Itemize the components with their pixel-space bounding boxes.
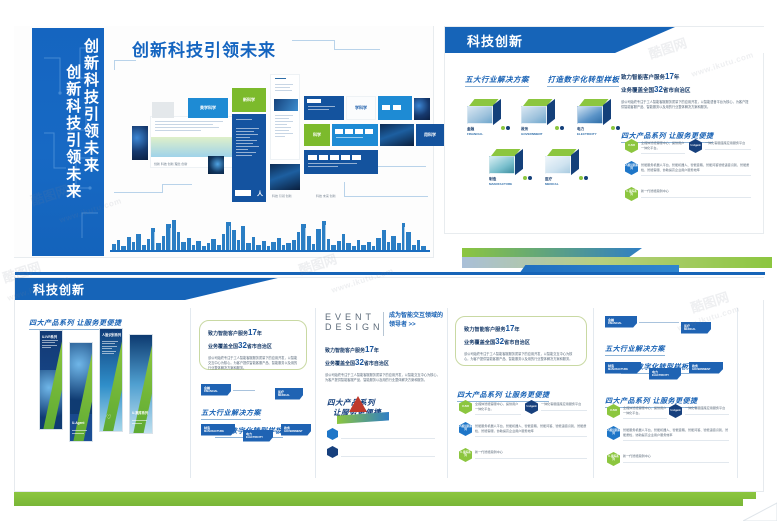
product-text-case: 新一代智能案例中心 xyxy=(641,187,751,198)
industry-dots xyxy=(611,117,621,135)
event-sub-2: 领导者 >> xyxy=(389,321,443,330)
vertical-title-line-a: 创新科技引领未来 xyxy=(82,38,98,248)
industry-label-electricity: 电力 ELECTRICITY xyxy=(577,127,597,136)
event-design-block: EVENT DESIGN xyxy=(325,312,384,332)
collage-photo-tile xyxy=(414,98,430,120)
stat-line-1-pre: 致力智能客户服务 xyxy=(208,331,248,337)
collage-navy-tile: 人 xyxy=(232,114,266,202)
industry-label-cn: 医疗 xyxy=(545,177,552,181)
stat-line-1: 致力智能客户服务17年 xyxy=(621,71,751,84)
tag-connector xyxy=(233,390,255,391)
industry-tag-en: FINANCIAL xyxy=(608,322,633,326)
stat-line-1: 致力智能客户服务17年 xyxy=(208,327,298,340)
col5-product-item-agent[interactable]: U-Agent 一体化客服座席应用服务平台 xyxy=(669,404,729,418)
manufacture-illustration-icon xyxy=(489,156,515,174)
event-subtitle: 成为智能交互领域的 领导者 >> xyxy=(389,312,443,330)
innovation-collage: 创新 科技 创新 理念 创新 美学科学 新科学 xyxy=(132,74,422,209)
collage-blue-tile xyxy=(332,124,378,146)
industry-dots xyxy=(523,167,533,185)
industry-tag-medical[interactable]: 医疗 MEDICAL xyxy=(681,322,711,334)
product-item-face[interactable]: 人脸识别系列 智能服务机器人平台、智能机器人、智能音箱、智能问答智能语音识别、智… xyxy=(625,161,751,176)
product-badge-ivr: U-IVR xyxy=(607,404,620,418)
product-badge-face: 人脸识别系列 xyxy=(607,426,620,440)
col4-product-item-face[interactable]: 人脸识别系列 智能服务机器人平台、智能机器人、智能音箱、智能问答、智能语音识别、… xyxy=(459,422,587,437)
product-card-title: U-案库系列 xyxy=(132,410,148,415)
product-badge-case: U-案库系列 xyxy=(625,187,638,201)
collage-navy-wide-tile xyxy=(304,150,378,174)
collage-caption-right-a: 科技 引领 创新 xyxy=(272,194,292,198)
industry-tag-medical[interactable]: 医疗 MEDICAL xyxy=(275,388,303,400)
top-headline: 创新科技引领未来 xyxy=(132,36,276,61)
bottom-column-solutions-2: 金融 FINANCIAL 医疗 MEDICAL 五大行业解决方案 打造数字化转型… xyxy=(599,302,733,490)
industry-tag-en: MEDICAL xyxy=(278,394,299,398)
industry-tag-en: FINANCIAL xyxy=(204,390,227,394)
industry-label-manufacture: 制造 MANUFACTURE xyxy=(489,177,512,186)
product-card-title: U-IVR系列 xyxy=(42,334,57,339)
deco-line xyxy=(292,40,334,41)
industry-tag-government[interactable]: 政务 GOVERNMENT xyxy=(281,424,311,436)
bottom-header-band xyxy=(15,278,765,300)
product-text-face: 智能服务机器人平台、智能机器人、智能音箱、智能问答、智能语音识别、智能质检，协助… xyxy=(623,426,729,441)
top-right-stat-block: 致力智能客户服务17年 业务覆盖全国32省市自治区 该公司始终专注于工人智能客服… xyxy=(621,71,751,110)
stat-line-1-post: 年 xyxy=(674,75,680,81)
column-divider xyxy=(190,308,191,478)
stat-line-2-post: 省市自治区 xyxy=(504,340,530,346)
deco-line xyxy=(334,40,335,49)
industry-icon-electricity xyxy=(577,99,611,125)
medical-illustration-icon xyxy=(545,156,571,174)
top-right-board: 科技创新 五大行业解决方案 打造数字化转型样板 金融 FINANCIAL xyxy=(444,26,764,234)
stat-line-2-pre: 业务覆盖全国 xyxy=(208,344,238,350)
bottom-green-bar xyxy=(14,492,756,506)
stat-line-1-pre: 致力智能客户服务 xyxy=(464,327,506,333)
collage-tile-label: 科学 xyxy=(304,132,330,138)
tag-connector xyxy=(643,368,649,369)
collage-green-tile: 科学 xyxy=(304,124,330,146)
column-divider xyxy=(737,308,738,478)
industry-dots xyxy=(579,167,589,185)
collage-caption-left: 创新 科技 创新 理念 创新 xyxy=(154,162,187,166)
industry-tag-en: GOVERNMENT xyxy=(284,430,307,434)
stat-line-2-number: 32 xyxy=(355,358,364,367)
bottom-panel-top-rule xyxy=(15,272,765,275)
industry-tag-en: GOVERNMENT xyxy=(692,368,719,372)
col4-product-item-agent[interactable]: U-Agent 一体化客服座席应用服务平台 xyxy=(525,400,587,414)
product-card-case[interactable]: U-案库系列 xyxy=(129,334,153,434)
industry-label-en: MEDICAL xyxy=(545,182,559,186)
industry-dots xyxy=(555,117,565,135)
deco-line xyxy=(114,60,115,70)
stat-line-1: 致力智能客户服务17年 xyxy=(464,323,578,336)
product-badge-face: 人脸识别系列 xyxy=(459,422,472,436)
stat-line-2: 业务覆盖全国32省市自治区 xyxy=(208,340,298,353)
product-card-face[interactable]: 人脸识别系列 ♡ xyxy=(99,328,123,432)
industry-tag-en: ELECTRICITY xyxy=(246,436,269,440)
top-panel: 创新科技引领未来 创新科技引领未来 创新科技引领未来 xyxy=(14,26,764,258)
accent-strip-top xyxy=(462,248,642,257)
product-badge-ivr: U-IVR xyxy=(625,139,638,153)
product-badge-agent: U-Agent xyxy=(689,139,702,153)
stat-line-2: 业务覆盖全国32省市自治区 xyxy=(464,336,578,349)
product-badge-agent: U-Agent xyxy=(525,400,538,414)
electricity-illustration-icon xyxy=(577,106,603,124)
bottom-column-products-2: 致力智能客户服务17年 业务覆盖全国32省市自治区 该公司始终专注于工人智能客服… xyxy=(453,302,591,490)
stat-line-2-pre: 业务覆盖全国 xyxy=(325,361,355,367)
industry-label-en: ELECTRICITY xyxy=(577,132,597,136)
collage-tile-label: 美学科学 xyxy=(188,105,228,111)
bottom-panel: 科技创新 四大产品系列 让服务更便捷 U-IVR系列 U-Agent xyxy=(14,277,764,492)
event-sub-1: 成为智能交互领域的 xyxy=(389,312,443,321)
product-badge-case: U-案库系列 xyxy=(607,452,620,466)
industry-label-en: GOVERNMENT xyxy=(521,132,543,136)
industry-tag-electricity[interactable]: 电力 ELECTRICITY xyxy=(649,368,681,380)
stat-line-1-post: 年 xyxy=(257,331,262,337)
industry-tag-en: ELECTRICITY xyxy=(652,374,677,378)
collage-navy-tile: 用科学 xyxy=(416,124,444,146)
industry-icon-financial xyxy=(467,99,501,125)
stat-line-2: 业务覆盖全国32省市自治区 xyxy=(325,357,441,370)
city-skyline-graphic xyxy=(110,212,430,254)
industry-label-cn: 制造 xyxy=(489,177,496,181)
col3-product-item-1[interactable] xyxy=(327,428,437,440)
industry-dots xyxy=(501,117,511,135)
bottom-column-products: 四大产品系列 让服务更便捷 U-IVR系列 U-Agent 人脸识别系列 ♡ xyxy=(25,302,185,490)
deco-line xyxy=(334,49,380,50)
stat-line-2-number: 32 xyxy=(238,341,247,350)
collage-green-tile: 新科学 xyxy=(232,88,266,112)
product-badge-ivr: U-IVR xyxy=(459,400,472,414)
event-word-1: EVENT xyxy=(325,312,384,322)
industry-tag-financial[interactable]: 金融 FINANCIAL xyxy=(605,316,637,328)
industries-heading-line1: 五大行业解决方案 xyxy=(201,408,261,420)
stat-line-1: 致力智能客户服务17年 xyxy=(325,344,441,357)
column-divider xyxy=(593,308,594,478)
industry-tag-manufacture[interactable]: 制造 MANUFACTURE xyxy=(201,424,235,436)
collage-caption-right-b: 科技 未来 创新 xyxy=(316,194,336,198)
industry-label-financial: 金融 FINANCIAL xyxy=(467,127,483,136)
product-text-ivr: 全媒体智能客服中心，提供用户一体化平台。 xyxy=(623,404,667,419)
product-card-agent[interactable]: U-Agent xyxy=(69,342,93,442)
bottom-panel-title: 科技创新 xyxy=(33,281,85,298)
product-text-agent: 一体化客服座席应用服务平台 xyxy=(541,400,587,411)
product-card-title: 人脸识别系列 xyxy=(102,332,121,337)
stat-line-1-post: 年 xyxy=(374,348,379,354)
corner-fold-icon xyxy=(743,499,777,521)
tag-connector xyxy=(639,322,679,323)
col5-product-item-case[interactable]: U-案库系列 新一代智能案例中心 xyxy=(607,452,729,466)
col5-product-item-face[interactable]: 人脸识别系列 智能服务机器人平台、智能机器人、智能音箱、智能问答、智能语音识别、… xyxy=(607,426,729,441)
financial-illustration-icon xyxy=(467,106,493,124)
col5-product-item-ivr[interactable]: U-IVR 全媒体智能客服中心，提供用户一体化平台。 xyxy=(607,404,667,419)
product-card-title: U-Agent xyxy=(72,421,84,425)
collage-photo-tile xyxy=(270,164,300,190)
stat-line-1-pre: 致力智能客户服务 xyxy=(621,75,665,81)
stat-line-2-number: 32 xyxy=(495,337,504,346)
industry-label-cn: 政务 xyxy=(521,127,528,131)
stat-line-1-post: 年 xyxy=(514,327,519,333)
product-badge-face: 人脸识别系列 xyxy=(625,161,638,175)
stat-line-2-pre: 业务覆盖全国 xyxy=(464,340,495,346)
tag-connector xyxy=(275,430,281,431)
stat-bubble: 致力智能客户服务17年 业务覆盖全国32省市自治区 该公司始终专注于工人智能客服… xyxy=(199,320,307,370)
stat-line-1-number: 17 xyxy=(365,345,374,354)
industry-tag-en: MEDICAL xyxy=(684,328,707,332)
collage-photo-tile xyxy=(132,126,148,160)
stat-line-2-number: 32 xyxy=(654,85,663,94)
product-text-case: 新一代智能案例中心 xyxy=(623,452,729,463)
product-card-ivr[interactable]: U-IVR系列 xyxy=(39,330,63,430)
column-divider xyxy=(315,308,316,478)
vertical-title-banner: 创新科技引领未来 创新科技引领未来 xyxy=(32,28,104,256)
stat-line-1-number: 17 xyxy=(248,328,257,337)
stat-body: 该公司始终专注于工人智能客服服务质量下的应用开发，以智能语音平台为核心，为客户提… xyxy=(621,100,751,110)
culture-wall-canvas: 创新科技引领未来 创新科技引领未来 创新科技引领未来 xyxy=(0,0,777,521)
stat-body: 该公司始终专注于工人智能客服服务质量下的应用开发，以智能交互中心为核心，为客户提… xyxy=(325,373,441,383)
product-text-ivr: 全媒体智能客服中心，提供用户一体化平台。 xyxy=(641,139,685,154)
industry-label-en: MANUFACTURE xyxy=(489,182,512,186)
stat-bubble: 致力智能客户服务17年 业务覆盖全国32省市自治区 该公司始终专注于工人智能客服… xyxy=(455,316,587,366)
stat-line-2-post: 省市自治区 xyxy=(663,88,691,94)
stat-line-2-post: 省市自治区 xyxy=(247,344,272,350)
industry-tag-financial[interactable]: 金融 FINANCIAL xyxy=(201,384,231,396)
industry-label-medical: 医疗 MEDICAL xyxy=(545,177,559,186)
industry-label-cn: 金融 xyxy=(467,127,474,131)
industry-tag-en: MANUFACTURE xyxy=(608,368,637,372)
industry-tag-government[interactable]: 政务 GOVERNMENT xyxy=(689,362,723,374)
col4-product-item-ivr[interactable]: U-IVR 全媒体智能客服中心，提供用户一体化平台。 xyxy=(459,400,521,415)
collage-photo-tile xyxy=(208,156,224,174)
product-text-face: 智能服务机器人平台、智能机器人、智能音箱、智能问答、智能语音识别、智能质检、智能… xyxy=(475,422,587,437)
industry-label-government: 政务 GOVERNMENT xyxy=(521,127,543,136)
skyline-baseline xyxy=(110,250,430,252)
stat-line-1-pre: 致力智能客户服务 xyxy=(325,348,365,354)
industries-heading-line1: 五大行业解决方案 xyxy=(605,344,665,356)
industry-label-cn: 电力 xyxy=(577,127,584,131)
skyline-svg xyxy=(110,212,430,254)
col3-product-item-2[interactable] xyxy=(327,446,437,458)
product-item-agent[interactable]: U-Agent 一体化客服座席应用服务平台 xyxy=(689,139,751,153)
industry-tag-manufacture[interactable]: 制造 MANUFACTURE xyxy=(605,362,641,374)
col3-stat-block: 致力智能客户服务17年 业务覆盖全国32省市自治区 该公司始终专注于工人智能客服… xyxy=(325,344,441,383)
collage-blue-tile: 美学科学 xyxy=(188,98,228,118)
tag-connector xyxy=(237,430,243,431)
collage-tile-label: 新科学 xyxy=(232,97,266,103)
collage-tile-label: 用科学 xyxy=(416,132,444,138)
collage-blue-tile xyxy=(304,96,344,120)
ribbon-arrow-icon xyxy=(349,396,367,412)
industry-icon-manufacture xyxy=(489,149,523,175)
collage-gray-tile xyxy=(152,102,174,118)
collage-photo-tile xyxy=(380,124,414,146)
product-text-agent: 一体化客服座席应用服务平台 xyxy=(685,404,729,415)
column-divider xyxy=(447,308,448,478)
event-word-2: DESIGN xyxy=(325,322,384,332)
corner-fold-graphic xyxy=(743,499,777,521)
top-right-title: 科技创新 xyxy=(467,31,523,50)
stat-line-2-post: 省市自治区 xyxy=(364,361,389,367)
industry-label-en: FINANCIAL xyxy=(467,132,483,136)
industries-heading-line2: 打造数字化转型样板 xyxy=(547,74,619,87)
industry-tag-en: MANUFACTURE xyxy=(204,430,231,434)
top-left-board: 创新科技引领未来 创新科技引领未来 创新科技引领未来 xyxy=(14,26,434,258)
industries-heading: 五大行业解决方案 打造数字化转型样板 xyxy=(465,69,619,87)
product-badge-agent: U-Agent xyxy=(669,404,682,418)
industry-icon-medical xyxy=(545,149,579,175)
industry-tag-electricity[interactable]: 电力 ELECTRICITY xyxy=(243,430,273,442)
product-text-face: 智能服务机器人平台、智能机器人、智能音箱、智能问答智能语音识别、智能质检、智能客… xyxy=(641,161,751,176)
stat-line-1-number: 17 xyxy=(665,72,674,81)
industry-icon-government xyxy=(521,99,555,125)
col4-product-item-case[interactable]: U-案库系列 新一代智能案例中心 xyxy=(459,448,587,462)
industries-heading-line1: 五大行业解决方案 xyxy=(465,74,529,87)
product-badge-case: U-案库系列 xyxy=(459,448,472,462)
product-text-case: 新一代智能案例中心 xyxy=(475,448,587,459)
product-text-agent: 一体化客服座席应用服务平台 xyxy=(705,139,751,150)
product-item-ivr[interactable]: U-IVR 全媒体智能客服中心，提供用户一体化平台。 xyxy=(625,139,685,154)
vertical-title-line-b: 创新科技引领未来 xyxy=(65,64,81,248)
event-divider xyxy=(383,312,384,336)
stat-line-2: 业务覆盖全国32省市自治区 xyxy=(621,84,751,97)
government-illustration-icon xyxy=(521,106,547,124)
collage-tile-label: 学科学 xyxy=(347,105,375,111)
stat-line-2-pre: 业务覆盖全国 xyxy=(621,88,654,94)
collage-article-tile xyxy=(270,74,300,160)
bottom-column-solutions: 致力智能客户服务17年 业务覆盖全国32省市自治区 该公司始终专注于工人智能客服… xyxy=(197,302,311,490)
stat-body: 该公司始终专注于工人智能客服服务质量下的应用开发，以智能交互中心为核心，为客户提… xyxy=(464,352,578,362)
bottom-column-event: EVENT DESIGN 成为智能交互领域的 领导者 >> 致力智能客户服务17… xyxy=(321,302,445,490)
product-item-case[interactable]: U-案库系列 新一代智能案例中心 xyxy=(625,187,751,201)
tag-connector xyxy=(683,368,689,369)
stat-body: 该公司始终专注于工人智能客服服务质量下的应用开发，以智能交互中心为核心，为客户提… xyxy=(208,356,298,371)
product-text-ivr: 全媒体智能客服中心，提供用户一体化平台。 xyxy=(475,400,521,415)
collage-blue-tile xyxy=(378,96,412,120)
collage-label-tile: 学科学 xyxy=(346,96,376,120)
